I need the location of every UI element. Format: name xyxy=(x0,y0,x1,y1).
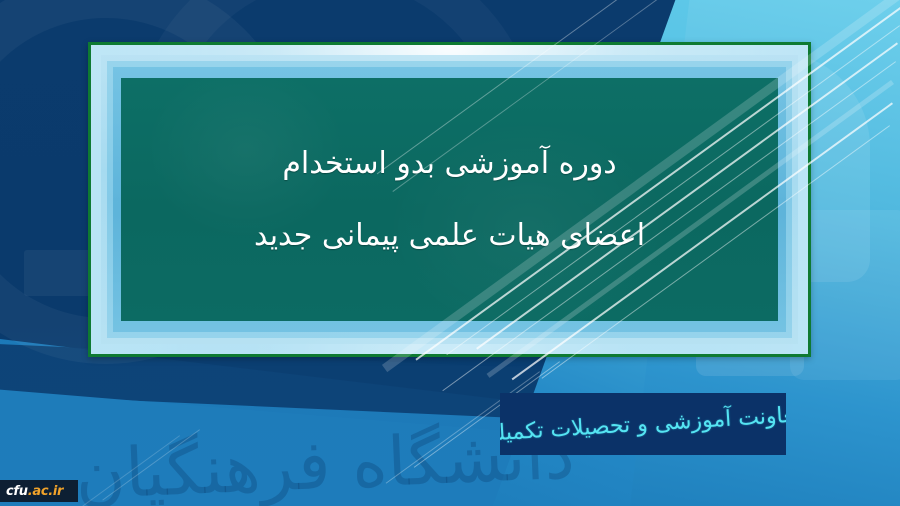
department-banner-text: معاونت آموزشی و تحصیلات تکمیلی xyxy=(500,402,786,447)
teal-content-panel: دوره آموزشی بدو استخدام اعضای هیات علمی … xyxy=(121,78,778,321)
department-banner: معاونت آموزشی و تحصیلات تکمیلی xyxy=(500,393,786,455)
content-card: دوره آموزشی بدو استخدام اعضای هیات علمی … xyxy=(88,42,811,357)
title-line-1: دوره آموزشی بدو استخدام xyxy=(282,145,616,183)
url-badge-prefix: cfu xyxy=(6,484,28,499)
presentation-slide: دانشگاه فرهنگیان دوره آموزشی بدو استخدام… xyxy=(0,0,900,506)
url-badge-suffix: .ac.ir xyxy=(28,484,63,499)
url-badge[interactable]: cfu.ac.ir xyxy=(0,480,78,502)
title-line-2: اعضای هیات علمی پیمانی جدید xyxy=(254,217,645,255)
